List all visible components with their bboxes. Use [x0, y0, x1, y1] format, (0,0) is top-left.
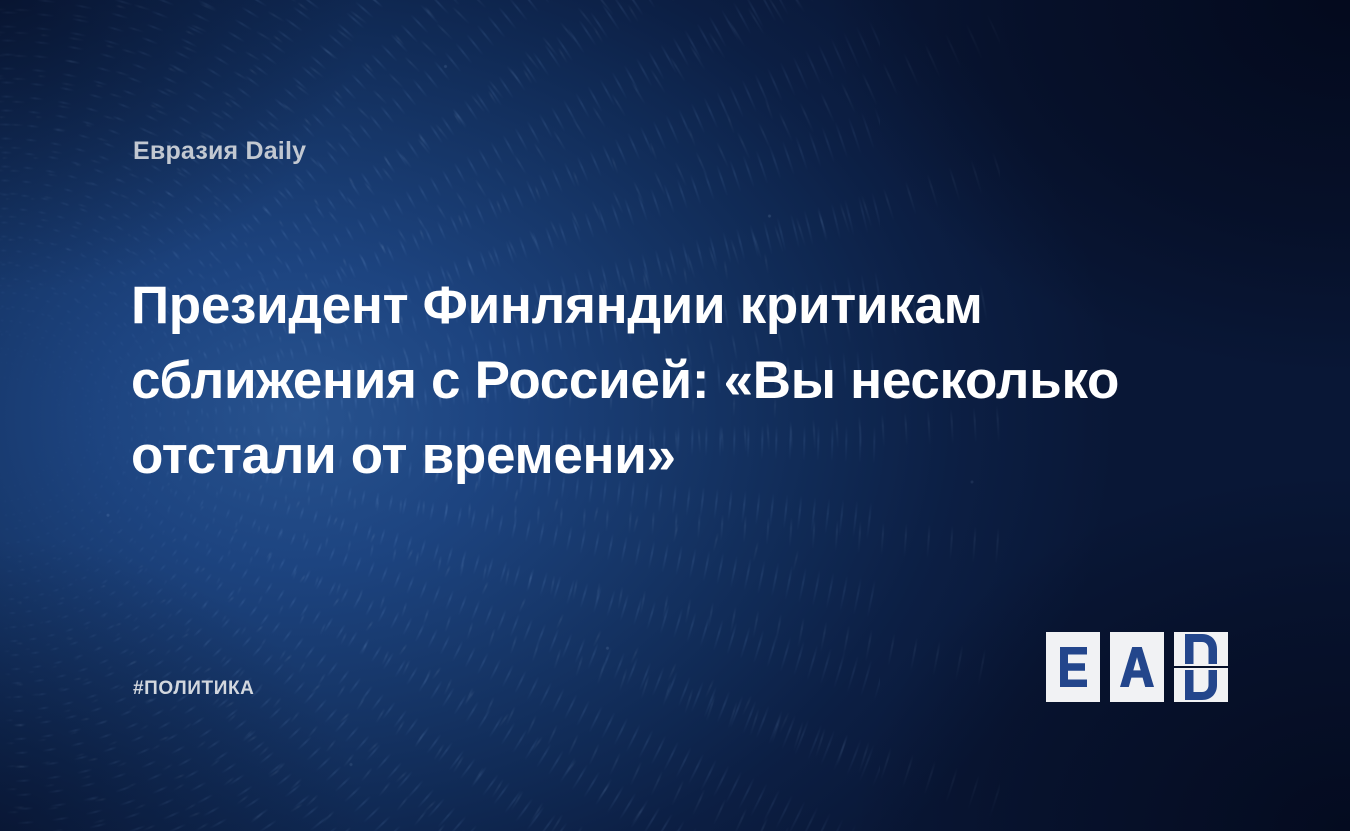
news-card: Евразия Daily Президент Финляндии критик…	[0, 0, 1350, 831]
logo-tile-a	[1110, 632, 1164, 702]
logo-tile-d-split	[1174, 632, 1228, 702]
category-tag-politics[interactable]: #ПОЛИТИКА	[133, 678, 255, 700]
logo-tile-d-bottom	[1174, 668, 1228, 702]
ead-logo[interactable]	[1046, 632, 1228, 702]
page-title: Президент Финляндии критикам сближения с…	[131, 268, 1171, 493]
card-content: Евразия Daily Президент Финляндии критик…	[0, 0, 1350, 831]
logo-tile-e	[1046, 632, 1100, 702]
logo-tile-d-top	[1174, 632, 1228, 666]
brand-wordmark[interactable]: Евразия Daily	[133, 137, 306, 166]
